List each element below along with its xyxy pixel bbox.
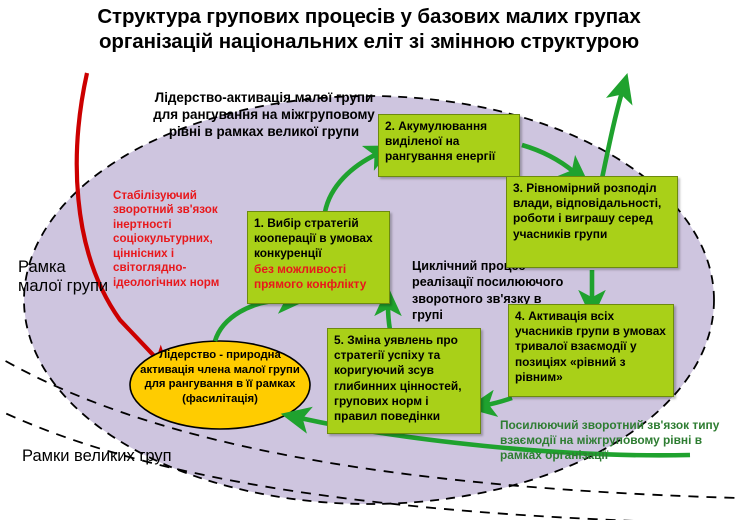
process-box-5[interactable]: 5. Зміна уявлень про стратегії успіху та…	[327, 328, 481, 434]
amplifying-feedback-note: Посилюючий зворотний зв'язок типу взаємо…	[500, 418, 732, 463]
process-box-1[interactable]: 1. Вибір стратегій кооперації в умовах к…	[247, 211, 390, 304]
process-box-2-text: 2. Акумулювання виділеної на рангування …	[385, 119, 514, 165]
diagram-canvas: Структура групових процесів у базових ма…	[0, 0, 738, 520]
page-title: Структура групових процесів у базових ма…	[0, 4, 738, 54]
center-leadership-label: Лідерство-активація малої групи для ранг…	[150, 90, 378, 141]
small-group-frame-label: Рамка малої групи	[18, 258, 114, 296]
page-title-line-2: організацій національних еліт зі змінною…	[0, 29, 738, 54]
process-box-4[interactable]: 4. Активація всіх учасників групи в умов…	[508, 304, 674, 397]
process-box-2[interactable]: 2. Акумулювання виділеної на рангування …	[378, 114, 520, 177]
large-groups-frame-label: Рамки великих груп	[22, 447, 172, 466]
process-box-5-text: 5. Зміна уявлень про стратегії успіху та…	[334, 333, 475, 424]
process-box-1-text: 1. Вибір стратегій кооперації в умовах к…	[254, 216, 384, 262]
process-box-3[interactable]: 3. Рівномірний розподіл влади, відповіда…	[506, 176, 678, 268]
process-box-3-text: 3. Рівномірний розподіл влади, відповіда…	[513, 181, 672, 242]
page-title-line-1: Структура групових процесів у базових ма…	[0, 4, 738, 29]
arrow-box5-to-box1	[388, 306, 390, 330]
stabilizing-feedback-note: Стабілізуючий зворотний зв'язок інертнос…	[113, 189, 235, 290]
process-box-1-red-text: без можливості прямого конфлікту	[254, 262, 384, 292]
process-box-4-text: 4. Активація всіх учасників групи в умов…	[515, 309, 668, 385]
facilitation-node-label: Лідерство - природна активація члена мал…	[140, 348, 300, 407]
